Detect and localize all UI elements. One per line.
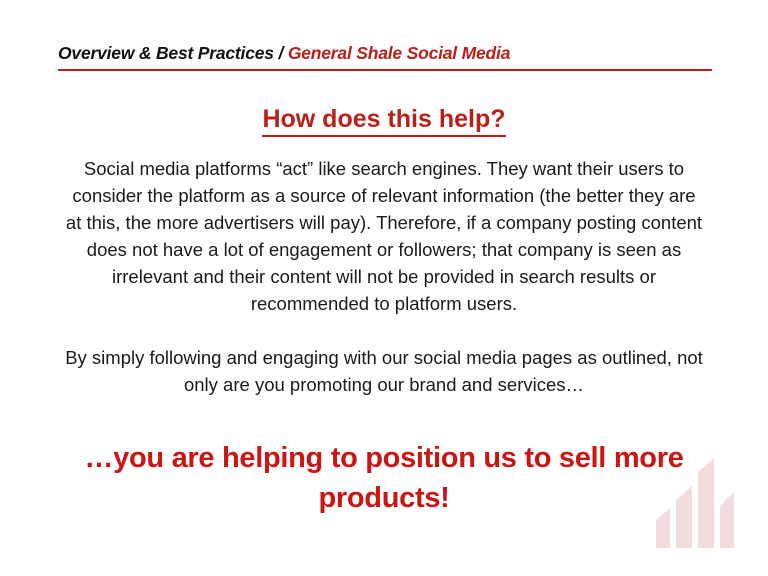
header-deck-label: General Shale Social Media xyxy=(288,43,510,63)
header-separator: / xyxy=(274,43,288,63)
page-title: How does this help? xyxy=(64,104,704,137)
paragraph-spacer xyxy=(64,317,704,344)
slide-content: How does this help? Social media platfor… xyxy=(64,104,704,518)
page-title-text: How does this help? xyxy=(262,104,505,137)
closing-statement: …you are helping to position us to sell … xyxy=(64,438,704,518)
header-breadcrumb: Overview & Best Practices / General Shal… xyxy=(58,42,714,64)
body-paragraph-1: Social media platforms “act” like search… xyxy=(64,155,704,317)
body-paragraph-2: By simply following and engaging with ou… xyxy=(64,344,704,398)
slide-header: Overview & Best Practices / General Shal… xyxy=(58,42,714,76)
header-divider-rule xyxy=(58,69,712,71)
slide-canvas: Overview & Best Practices / General Shal… xyxy=(0,0,768,576)
header-section-label: Overview & Best Practices xyxy=(58,43,274,63)
